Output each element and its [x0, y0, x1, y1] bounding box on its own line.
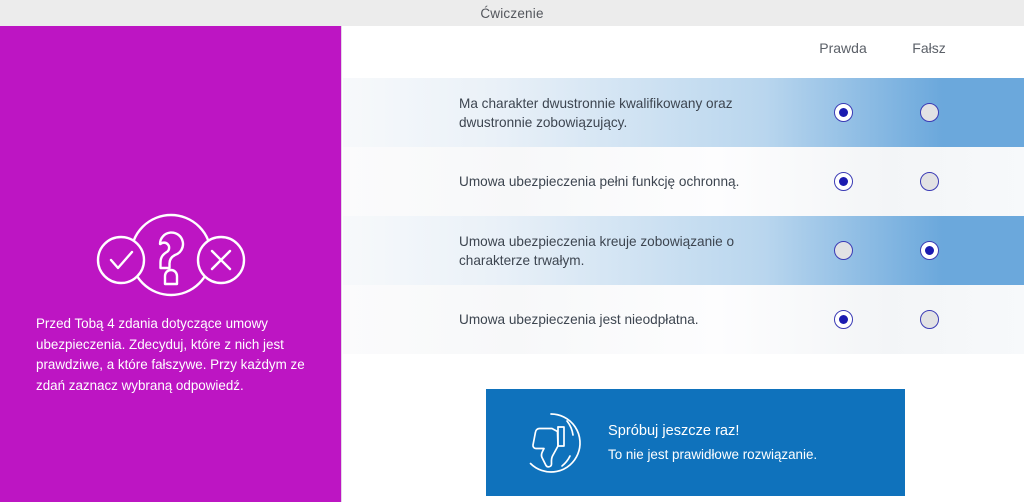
window-titlebar: Ćwiczenie — [0, 0, 1024, 26]
column-header-false: Fałsz — [869, 40, 989, 56]
feedback-banner: Spróbuj jeszcze raz! To nie jest prawidł… — [486, 389, 905, 496]
quiz-header: Prawda Fałsz — [343, 26, 1024, 78]
radio-false-row-1[interactable] — [912, 96, 946, 130]
radio-true-row-2[interactable] — [826, 165, 860, 199]
radio-false-row-3[interactable] — [912, 234, 946, 268]
feedback-texts: Spróbuj jeszcze raz! To nie jest prawidł… — [608, 420, 817, 466]
table-row: Umowa ubezpieczenia jest nieodpłatna. — [343, 285, 1024, 354]
radio-icon — [920, 103, 939, 122]
radio-icon — [834, 103, 853, 122]
quiz-rows: Ma charakter dwustronnie kwalifikowany o… — [343, 78, 1024, 354]
radio-icon — [920, 310, 939, 329]
radio-icon — [834, 172, 853, 191]
quiz-panel: Prawda Fałsz Ma charakter dwustronnie kw… — [343, 26, 1024, 502]
table-row: Umowa ubezpieczenia pełni funkcję ochron… — [343, 147, 1024, 216]
radio-true-row-1[interactable] — [826, 96, 860, 130]
exercise-app: Ćwiczenie Przed Tobą 4 zdania dotyczące … — [0, 0, 1024, 502]
question-text: Ma charakter dwustronnie kwalifikowany o… — [459, 94, 769, 132]
thumbs-down-icon — [520, 412, 582, 474]
question-check-cross-icon — [96, 208, 246, 303]
instruction-panel: Przed Tobą 4 zdania dotyczące umowy ubez… — [0, 26, 342, 502]
table-row: Ma charakter dwustronnie kwalifikowany o… — [343, 78, 1024, 147]
radio-false-row-4[interactable] — [912, 303, 946, 337]
question-text: Umowa ubezpieczenia pełni funkcję ochron… — [459, 172, 769, 191]
table-row: Umowa ubezpieczenia kreuje zobowiązanie … — [343, 216, 1024, 285]
instruction-text: Przed Tobą 4 zdania dotyczące umowy ubez… — [36, 314, 308, 396]
window-title: Ćwiczenie — [480, 6, 543, 21]
feedback-subtitle: To nie jest prawidłowe rozwiązanie. — [608, 443, 817, 466]
question-text: Umowa ubezpieczenia kreuje zobowiązanie … — [459, 232, 769, 270]
radio-true-row-4[interactable] — [826, 303, 860, 337]
radio-true-row-3[interactable] — [826, 234, 860, 268]
feedback-title: Spróbuj jeszcze raz! — [608, 420, 817, 443]
question-text: Umowa ubezpieczenia jest nieodpłatna. — [459, 310, 769, 329]
radio-icon — [920, 172, 939, 191]
radio-icon — [920, 241, 939, 260]
radio-icon — [834, 241, 853, 260]
radio-false-row-2[interactable] — [912, 165, 946, 199]
radio-icon — [834, 310, 853, 329]
